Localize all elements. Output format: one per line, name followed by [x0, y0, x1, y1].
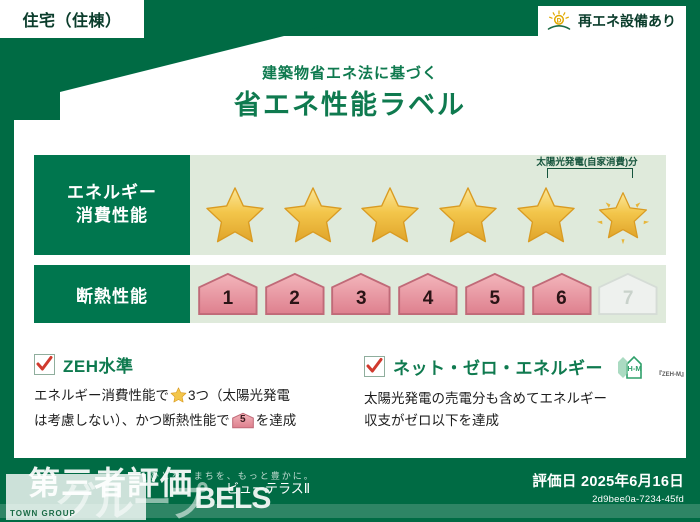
insulation-level-number: 6	[556, 279, 567, 310]
energy-label-line1: エネルギー	[67, 182, 157, 205]
insulation-level-7: 7	[596, 272, 660, 316]
star-icon	[515, 185, 577, 245]
insulation-level-6: 6	[530, 272, 594, 316]
star-slot-2	[274, 185, 352, 245]
zeh-house-icon: H-M	[613, 352, 655, 380]
label-title: 省エネ性能ラベル	[0, 83, 700, 122]
insulation-rating-band: 1 2 3 4	[190, 265, 666, 323]
solar-annotation-bracket	[547, 168, 633, 178]
svg-text:H-M: H-M	[627, 364, 641, 373]
sun-icon: D	[546, 10, 572, 32]
category-tag: 住宅（住棟）	[0, 0, 144, 38]
star-icon	[359, 185, 421, 245]
insulation-level-number: 5	[489, 279, 500, 310]
energy-performance-label: エネルギー 消費性能	[34, 155, 190, 255]
svg-text:D: D	[557, 17, 562, 24]
zeh-description: エネルギー消費性能で3つ（太陽光発電は考慮しない）、かつ断熱性能で5を達成	[34, 385, 334, 432]
net-zero-desc-line1: 太陽光発電の売電分も含めてエネルギー	[364, 391, 607, 406]
star-slot-6-solar	[584, 185, 662, 245]
insulation-level-number: 4	[423, 279, 434, 310]
star-slot-4	[429, 185, 507, 245]
net-zero-heading: ネット・ゼロ・エネルギー H-M 『ZEH-M』	[364, 352, 670, 380]
check-icon	[34, 354, 55, 375]
insulation-level-4: 4	[396, 272, 460, 316]
insulation-level-number: 7	[623, 279, 634, 310]
category-tag-label: 住宅（住棟）	[22, 7, 121, 31]
zeh-desc-pre: エネルギー消費性能で	[34, 388, 169, 403]
inline-house-badge: 5	[232, 412, 254, 429]
label-subtitle: 建築物省エネ法に基づく	[0, 62, 700, 83]
net-zero-desc-line2: 収支がゼロ以下を達成	[364, 413, 499, 428]
star-slot-3	[351, 185, 429, 245]
zeh-logo-caption: 『ZEH-M』	[656, 369, 687, 380]
insulation-level-5: 5	[463, 272, 527, 316]
insulation-level-1: 1	[196, 272, 260, 316]
zeh-heading: ZEH水準	[34, 352, 334, 377]
zeh-desc-stars: 3つ（太陽光発電	[188, 388, 290, 403]
inline-house-number: 5	[232, 412, 254, 429]
zeh-desc-mid: は考慮しない）、かつ断熱性能で	[34, 413, 230, 428]
building-name: ビューテラスⅡ	[226, 478, 310, 497]
renewable-badge-label: 再エネ設備あり	[578, 11, 676, 31]
insulation-performance-row: 断熱性能 1 2	[34, 265, 666, 323]
insulation-performance-label: 断熱性能	[34, 265, 190, 323]
solar-annotation-text: 太陽光発電(自家消費)分	[512, 154, 662, 168]
star-icon-solar	[592, 185, 654, 245]
net-zero-energy-block: ネット・ゼロ・エネルギー H-M 『ZEH-M』 太陽光発電の売電分も含めてエネ…	[364, 352, 670, 432]
net-zero-description: 太陽光発電の売電分も含めてエネルギー 収支がゼロ以下を達成	[364, 388, 670, 432]
energy-rating-band: 太陽光発電(自家消費)分	[190, 155, 666, 255]
insulation-level-2: 2	[263, 272, 327, 316]
insulation-level-number: 1	[223, 279, 234, 310]
insulation-level-number: 3	[356, 279, 367, 310]
check-icon	[364, 356, 385, 377]
star-slot-5	[507, 185, 585, 245]
zeh-title: ZEH水準	[63, 352, 134, 377]
insulation-level-group: 1 2 3 4	[190, 265, 666, 323]
document-id: 2d9bee0a-7234-45fd	[532, 494, 684, 505]
insulation-label-text: 断熱性能	[76, 282, 148, 307]
net-zero-title: ネット・ゼロ・エネルギー	[393, 354, 603, 379]
star-rating-group	[196, 179, 662, 251]
star-slot-1	[196, 185, 274, 245]
inline-star-icon	[170, 387, 187, 410]
insulation-level-number: 2	[289, 279, 300, 310]
zeh-m-logo: H-M 『ZEH-M』	[613, 352, 687, 380]
energy-label-page: 住宅（住棟） D 再エネ設備あり 建築物省エネ法に基づく 省エネ性能ラベル	[0, 0, 700, 522]
evaluation-date: 評価日 2025年6月16日	[532, 470, 684, 491]
zeh-desc-post: を達成	[256, 413, 297, 428]
energy-label-line2: 消費性能	[76, 205, 148, 228]
star-icon	[437, 185, 499, 245]
renewable-equipment-badge: D 再エネ設備あり	[538, 6, 686, 36]
insulation-level-3: 3	[329, 272, 393, 316]
star-icon	[204, 185, 266, 245]
zeh-standard-block: ZEH水準 エネルギー消費性能で3つ（太陽光発電は考慮しない）、かつ断熱性能で5…	[34, 352, 334, 432]
footer-bar: ビューテラスⅡ 評価日 2025年6月16日 2d9bee0a-7234-45f…	[0, 458, 700, 522]
evaluation-meta: 評価日 2025年6月16日 2d9bee0a-7234-45fd	[532, 470, 684, 505]
energy-performance-row: エネルギー 消費性能 太陽光発電(自家消費)分	[34, 155, 666, 255]
star-icon	[282, 185, 344, 245]
